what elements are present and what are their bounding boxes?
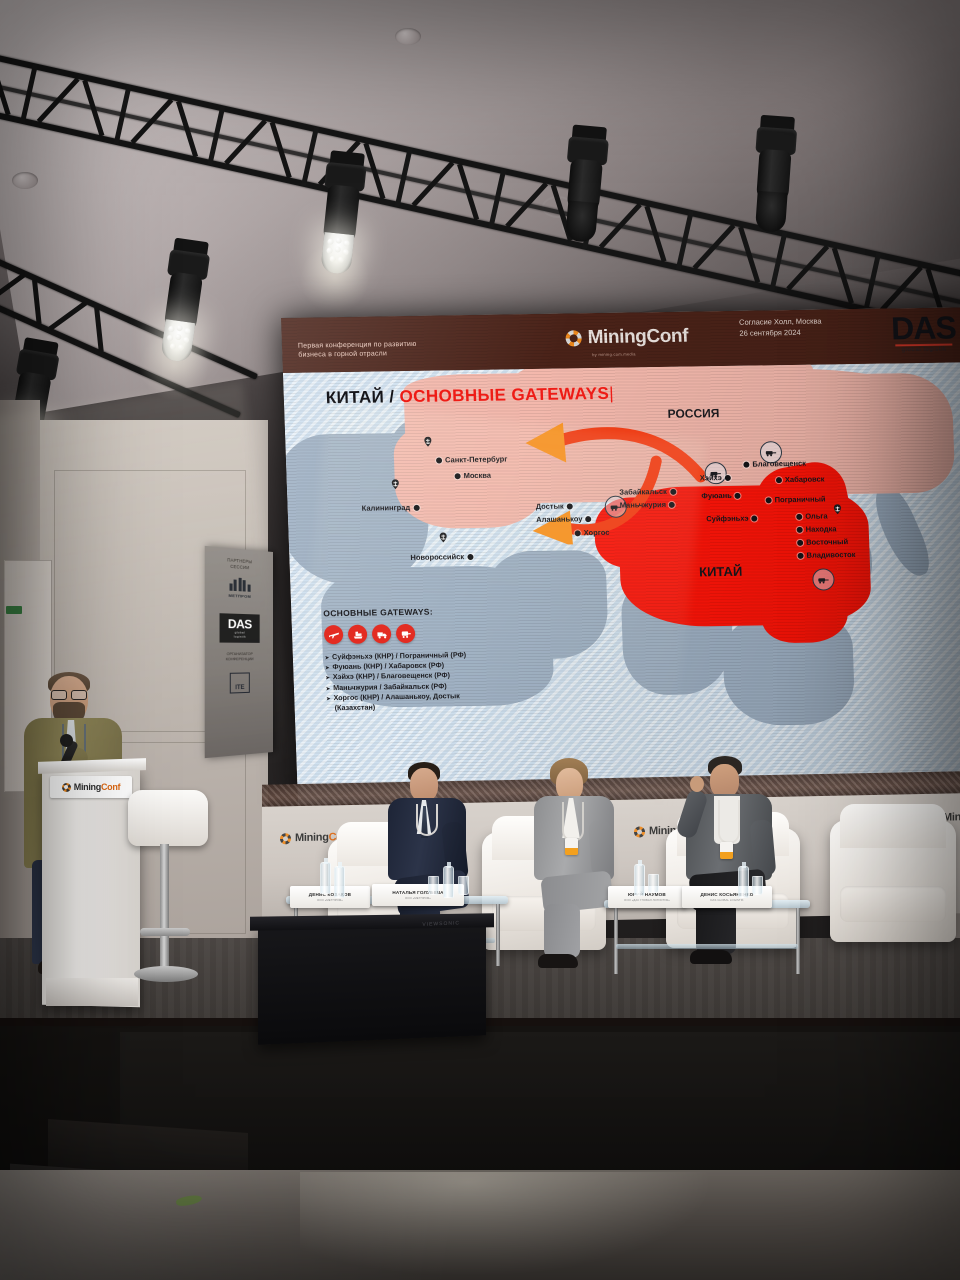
map-city: Хоргос xyxy=(575,528,610,538)
map-land-china-se xyxy=(760,580,848,643)
metprom-logo-text: МЕТПРОМ xyxy=(228,593,251,599)
truss-diagonal xyxy=(599,203,642,249)
conference-photo: Первая конференция по развитию бизнеса в… xyxy=(0,0,960,1280)
city-label: Забайкальск xyxy=(619,487,667,497)
city-dot xyxy=(796,513,802,519)
panelist-hand xyxy=(690,776,704,792)
truss-diagonal xyxy=(224,119,267,165)
drinking-glass xyxy=(428,876,439,895)
map-city: Владивосток xyxy=(797,550,855,560)
truss-diagonal xyxy=(32,280,42,324)
city-dot xyxy=(797,526,803,532)
tagline-line-2: бизнеса в горной отрасли xyxy=(298,349,417,360)
water-bottle xyxy=(443,866,454,898)
podium xyxy=(42,765,140,1008)
table-leg xyxy=(796,908,800,974)
truss-diagonal xyxy=(130,98,173,144)
panelist-shoe xyxy=(538,954,578,968)
legend-mode-icons xyxy=(324,623,466,644)
map-city: Суйфэньхэ xyxy=(706,514,758,524)
truss-diagonal xyxy=(94,308,104,352)
map-city: Достык xyxy=(536,501,573,511)
ite-banner-text: ITE xyxy=(235,685,244,691)
title-prefix: КИТАЙ / xyxy=(325,387,399,407)
rail-icon xyxy=(396,624,416,643)
map-city: Санкт-Петербург xyxy=(436,454,508,464)
nameplate-role: ООО «МЕТПРОМ» xyxy=(405,896,431,900)
drinking-glass xyxy=(458,876,469,895)
city-label: Благовещенск xyxy=(752,459,806,469)
das-logo-tagline: global logistik xyxy=(892,347,957,354)
city-label: Суйфэньхэ xyxy=(706,514,749,524)
metprom-logo: МЕТПРОМ xyxy=(228,577,251,599)
das-banner-text: DAS xyxy=(228,618,252,631)
anchor-icon xyxy=(437,532,451,549)
logo-subtitle: by mining.com.media xyxy=(592,351,636,357)
drinking-glass xyxy=(648,874,659,893)
city-dot xyxy=(567,503,573,509)
panelist-lanyard xyxy=(562,802,584,842)
ite-banner-logo: ITE xyxy=(230,672,250,693)
city-dot xyxy=(467,553,473,559)
city-label: Санкт-Петербург xyxy=(445,454,508,464)
das-banner-logo: DAS global logistik xyxy=(220,613,260,643)
organizer-heading: ОРГАНИЗАТОР КОНФЕРЕНЦИИ xyxy=(226,652,254,663)
sponsor-banner-heading: ПАРТНЕРЫ СЕССИИ xyxy=(227,557,252,572)
truck-icon xyxy=(372,624,392,643)
title-accent: ОСНОВНЫЕ GATEWAYS xyxy=(399,384,609,406)
logo-text: MiningConf xyxy=(587,326,688,350)
truss-diagonal xyxy=(411,161,454,207)
das-logo-text: DAS xyxy=(891,312,957,343)
city-label: Маньчжурия xyxy=(620,500,667,510)
map-land-arabia xyxy=(485,550,609,660)
floor-reflection xyxy=(300,1172,720,1280)
truss-diagonal xyxy=(786,245,829,291)
bar-stool xyxy=(128,790,208,1000)
city-label: Фуюань xyxy=(701,491,732,500)
anchor-icon xyxy=(421,437,435,454)
map-city: Маньчжурия xyxy=(620,500,676,510)
country-label-russia: РОССИЯ xyxy=(667,406,719,421)
city-dot xyxy=(575,530,581,536)
truss-diagonal xyxy=(505,182,548,228)
map-city: Калининград xyxy=(362,503,420,513)
water-bottle xyxy=(738,866,749,898)
title-caret: | xyxy=(609,384,614,403)
anchor-icon xyxy=(389,479,403,496)
country-label-china: КИТАЙ xyxy=(699,564,743,580)
coffee-table-right xyxy=(604,900,810,976)
podium-logo-text: MiningConf xyxy=(74,782,121,792)
city-dot xyxy=(585,516,591,522)
city-label: Восточный xyxy=(806,537,848,547)
microphone-head xyxy=(60,734,73,747)
legend-title: ОСНОВНЫЕ GATEWAYS: xyxy=(323,606,465,618)
armchair-cushion xyxy=(840,886,946,923)
ship-icon xyxy=(348,625,368,644)
city-label: Хэйхэ xyxy=(700,473,722,482)
truss-diagonal xyxy=(0,273,25,303)
table-leg xyxy=(496,904,500,966)
map-city: Восточный xyxy=(797,537,848,547)
map-city: Ольга xyxy=(796,511,828,520)
stool-footrest xyxy=(140,928,190,936)
slide: Первая конференция по развитию бизнеса в… xyxy=(281,307,960,805)
map-land-russia-east xyxy=(823,372,955,494)
panelist-badge xyxy=(720,842,733,859)
city-dot xyxy=(776,477,782,483)
city-label: Москва xyxy=(463,471,491,480)
map-city: Забайкальск xyxy=(619,487,676,497)
map-city: Фуюань xyxy=(701,491,741,501)
gear-icon xyxy=(565,330,582,346)
water-bottle xyxy=(634,864,645,896)
map-city: Хабаровск xyxy=(776,474,825,484)
date-text: 26 сентября 2024 xyxy=(739,327,822,340)
city-label: Калининград xyxy=(362,503,411,513)
map-city: Москва xyxy=(454,471,491,481)
gear-icon xyxy=(62,783,71,792)
slide-tagline: Первая конференция по развитию бизнеса в… xyxy=(298,340,417,361)
panelist-badge xyxy=(565,838,578,855)
nameplate-role: DAS GLOBAL LOGISTIK xyxy=(710,898,743,902)
ceiling-downlight xyxy=(395,28,421,45)
city-dot xyxy=(751,515,757,521)
city-label: Хоргос xyxy=(584,528,610,537)
panelist-head xyxy=(410,768,438,802)
stool-seat xyxy=(128,790,208,846)
stool-base xyxy=(134,966,198,982)
podium-base xyxy=(46,978,138,1006)
city-dot xyxy=(413,504,419,510)
city-label: Владивосток xyxy=(806,550,855,560)
das-logo: DAS global logistik xyxy=(891,312,957,353)
stool-leg xyxy=(160,844,169,970)
water-bottle xyxy=(334,866,345,898)
map-city: Алашанькоу xyxy=(536,514,592,524)
slide-legend: ОСНОВНЫЕ GATEWAYS: xyxy=(323,606,468,713)
city-dot xyxy=(766,497,772,503)
map-city: Пограничный xyxy=(765,494,825,504)
miningconf-logo: MiningConf by mining.com.media xyxy=(565,326,688,350)
panelist-arm xyxy=(750,819,777,877)
podium-sign: MiningConf xyxy=(50,776,132,798)
nameplate-role: ООО «ДАС ГЛОБАЛ ЛОГИСТИК» xyxy=(624,898,670,902)
map-city: Хэйхэ xyxy=(700,473,731,482)
light-lens xyxy=(755,191,788,233)
venue-text: Согласие Холл, Москва xyxy=(739,316,822,329)
city-label: Алашанькоу xyxy=(536,514,583,524)
city-dot xyxy=(797,552,803,558)
anchor-icon xyxy=(831,504,845,521)
gear-icon xyxy=(280,833,291,844)
nameplate: ЮРИЙ НАУМОВ ООО «ДАС ГЛОБАЛ ЛОГИСТИК» xyxy=(608,886,686,908)
table-shelf xyxy=(616,944,797,949)
table-leg xyxy=(614,908,618,974)
sponsor-banner: ПАРТНЕРЫ СЕССИИ МЕТПРОМ DAS global logis… xyxy=(205,546,273,758)
city-label: Ольга xyxy=(805,511,828,520)
truss-diagonal xyxy=(37,77,80,123)
armchair-empty xyxy=(830,820,956,942)
city-dot xyxy=(669,501,675,507)
plane-icon xyxy=(324,625,344,644)
panelist-leg xyxy=(544,904,580,958)
drinking-glass xyxy=(752,876,763,895)
presentation-screen: Первая конференция по развитию бизнеса в… xyxy=(281,307,960,805)
exit-sign xyxy=(6,606,22,614)
city-dot xyxy=(455,473,461,479)
city-label: Новороссийск xyxy=(410,552,464,562)
metprom-mark xyxy=(228,577,251,592)
city-label: Достык xyxy=(536,502,564,511)
glasses-icon xyxy=(51,690,87,698)
nameplate-role: ООО «МЕТПРОМ» xyxy=(317,898,343,902)
truss-diagonal xyxy=(693,224,736,270)
map-city: Находка xyxy=(797,524,837,534)
organizer-line-2: КОНФЕРЕНЦИИ xyxy=(226,657,254,663)
city-dot xyxy=(797,539,803,545)
truss-diagonal xyxy=(49,301,88,331)
map-area: КИТАЙ / ОСНОВНЫЕ GATEWAYS| РОССИЯ КИТАЙ xyxy=(283,362,960,805)
truss-diagonal xyxy=(880,266,923,312)
panelist-arm xyxy=(588,819,614,876)
panelist-lanyard xyxy=(416,804,438,836)
map-city: Благовещенск xyxy=(743,459,806,469)
partners-line-2: СЕССИИ xyxy=(227,564,252,572)
armchair-back xyxy=(840,804,946,848)
legend-gateway-list: Суйфэньхэ (КНР) / Пограничный (РФ) Фуюан… xyxy=(325,650,468,713)
panelist-lanyard xyxy=(718,800,740,844)
city-dot xyxy=(436,457,442,463)
panelist-head xyxy=(710,764,739,798)
city-dot xyxy=(735,492,741,498)
city-label: Хабаровск xyxy=(785,474,825,484)
city-label: Находка xyxy=(806,524,837,533)
map-city: Новороссийск xyxy=(410,552,473,562)
city-dot xyxy=(670,488,676,494)
city-label: Пограничный xyxy=(774,494,825,504)
water-bottle xyxy=(320,862,331,894)
confidence-monitor: VIEWSONIC xyxy=(258,917,486,1045)
city-dot xyxy=(725,474,731,480)
slide-venue-block: Согласие Холл, Москва 26 сентября 2024 xyxy=(739,316,822,340)
city-dot xyxy=(743,461,749,467)
